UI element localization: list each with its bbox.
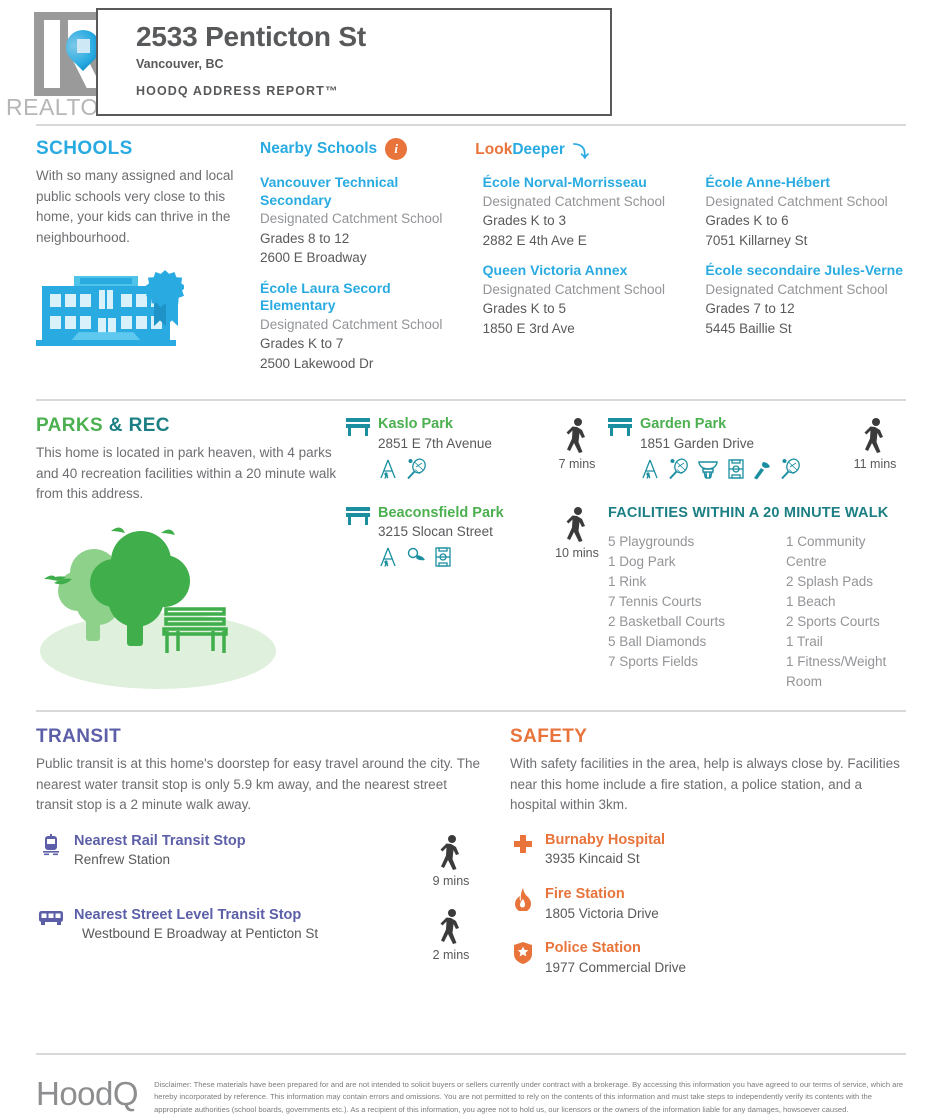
- school-address: 1850 E 3rd Ave: [483, 319, 684, 339]
- safety-item[interactable]: Police Station 1977 Commercial Drive: [510, 939, 906, 978]
- facilities-block: FACILITIES WITHIN A 20 MINUTE WALK 5 Pla…: [608, 504, 906, 692]
- park-illustration: [36, 511, 286, 691]
- hoodq-address-report-page: REALTOR® 2533 Penticton St Vancouver, BC…: [0, 0, 942, 1116]
- walk-time: 2 mins: [420, 906, 482, 962]
- schools-blurb: With so many assigned and local public s…: [36, 166, 246, 248]
- school-name[interactable]: École Laura Secord Elementary: [260, 280, 461, 315]
- facility-item: 7 Sports Fields: [608, 652, 758, 672]
- transit-stop-value: Renfrew Station: [74, 850, 246, 870]
- safety-section: SAFETY With safety facilities in the are…: [506, 726, 906, 978]
- walk-minutes: 2 mins: [420, 948, 482, 962]
- schools-grid: Vancouver Technical Secondary Designated…: [260, 174, 906, 385]
- walking-person-icon: [546, 504, 608, 544]
- school-grades: Grades K to 3: [483, 211, 684, 231]
- safety-facility-name[interactable]: Fire Station: [545, 885, 659, 904]
- report-type-label: HOODQ ADDRESS REPORT™: [136, 84, 610, 98]
- school-designation: Designated Catchment School: [483, 280, 684, 300]
- park-address: 3215 Slocan Street: [378, 522, 504, 542]
- school-grades: Grades K to 6: [705, 211, 906, 231]
- park-bench-icon: [346, 507, 370, 525]
- transit-stop-row[interactable]: Nearest Street Level Transit Stop Westbo…: [36, 906, 482, 962]
- transit-stop-value: Westbound E Broadway at Penticton St: [82, 924, 318, 944]
- disclaimer-text: Disclaimer: These materials have been pr…: [154, 1069, 906, 1116]
- flame-icon: [510, 885, 536, 911]
- basketball-icon: [696, 458, 720, 480]
- train-icon: [36, 832, 66, 871]
- school-grades: Grades K to 7: [260, 334, 461, 354]
- hospital-cross-icon: [510, 831, 536, 855]
- school-item[interactable]: École Norval-Morrisseau Designated Catch…: [483, 174, 684, 250]
- sports-field-icon: [434, 546, 452, 568]
- police-shield-icon: [510, 939, 536, 965]
- park-name[interactable]: Kaslo Park: [378, 415, 492, 433]
- nearby-schools-heading: Nearby Schools i: [260, 138, 475, 160]
- school-address: 2600 E Broadway: [260, 248, 461, 268]
- sports-field-icon: [727, 458, 745, 480]
- school-grades: Grades K to 5: [483, 299, 684, 319]
- walk-minutes: 9 mins: [420, 874, 482, 888]
- parks-section: PARKS & REC This home is located in park…: [0, 401, 942, 692]
- safety-facility-address: 3935 Kincaid St: [545, 849, 665, 869]
- bus-icon: [36, 906, 66, 945]
- safety-blurb: With safety facilities in the area, help…: [510, 754, 906, 816]
- walk-time: 9 mins: [420, 832, 482, 888]
- park-amenities: [378, 546, 504, 568]
- divider: [36, 1053, 906, 1055]
- school-designation: Designated Catchment School: [705, 192, 906, 212]
- look-deeper-label-b: Deeper: [512, 141, 565, 158]
- walk-time: 11 mins: [844, 415, 906, 471]
- info-icon[interactable]: i: [385, 138, 407, 160]
- park-bench-icon: [346, 418, 370, 436]
- safety-facility-address: 1977 Commercial Drive: [545, 958, 686, 978]
- school-address: 5445 Baillie St: [705, 319, 906, 339]
- school-item[interactable]: Queen Victoria Annex Designated Catchmen…: [483, 262, 684, 338]
- facility-item: 2 Sports Courts: [786, 612, 906, 632]
- parks-blurb: This home is located in park heaven, wit…: [36, 443, 346, 505]
- school-name[interactable]: École secondaire Jules-Verne: [705, 262, 906, 280]
- school-name[interactable]: École Norval-Morrisseau: [483, 174, 684, 192]
- transit-safety-section: TRANSIT Public transit is at this home's…: [0, 712, 942, 978]
- facility-item: 1 Beach: [786, 592, 906, 612]
- safety-item[interactable]: Fire Station 1805 Victoria Drive: [510, 885, 906, 924]
- facilities-column-1: 5 Playgrounds 1 Dog Park 1 Rink 7 Tennis…: [608, 532, 758, 692]
- schools-column: École Anne-Hébert Designated Catchment S…: [705, 174, 906, 385]
- playground-icon: [378, 458, 398, 480]
- report-footer: HoodQ Disclaimer: These materials have b…: [0, 1053, 942, 1116]
- schools-section-title: SCHOOLS: [36, 138, 246, 160]
- map-pin-icon: [66, 30, 100, 74]
- facilities-title: FACILITIES WITHIN A 20 MINUTE WALK: [608, 504, 906, 524]
- school-grades: Grades 8 to 12: [260, 229, 461, 249]
- school-award-badge-icon: [146, 270, 188, 326]
- facility-item: 1 Trail: [786, 632, 906, 652]
- facility-item: 1 Dog Park: [608, 552, 758, 572]
- playground-icon: [640, 458, 660, 480]
- school-item[interactable]: École Laura Secord Elementary Designated…: [260, 280, 461, 374]
- parks-title-a: PARKS: [36, 415, 103, 436]
- park-address: 1851 Garden Drive: [640, 434, 801, 454]
- transit-section-title: TRANSIT: [36, 726, 482, 748]
- look-deeper-label-a: Look: [475, 141, 512, 158]
- tennis-icon: [405, 458, 427, 480]
- school-designation: Designated Catchment School: [260, 315, 461, 335]
- tennis-icon: [667, 458, 689, 480]
- safety-facility-name[interactable]: Burnaby Hospital: [545, 831, 665, 850]
- facility-item: 1 Rink: [608, 572, 758, 592]
- walk-minutes: 7 mins: [546, 457, 608, 471]
- school-designation: Designated Catchment School: [260, 209, 461, 229]
- school-building-illustration: [36, 264, 196, 354]
- walking-person-icon: [420, 832, 482, 872]
- facility-item: 7 Tennis Courts: [608, 592, 758, 612]
- school-name[interactable]: École Anne-Hébert: [705, 174, 906, 192]
- park-item[interactable]: Kaslo Park 2851 E 7th Avenue: [346, 415, 546, 479]
- facilities-column-2: 1 Community Centre 2 Splash Pads 1 Beach…: [786, 532, 906, 692]
- park-name[interactable]: Beaconsfield Park: [378, 504, 504, 522]
- park-amenities: [640, 458, 801, 480]
- park-item[interactable]: Garden Park 1851 Garden Drive: [608, 415, 844, 479]
- transit-stop-label: Nearest Rail Transit Stop: [74, 832, 246, 851]
- park-name[interactable]: Garden Park: [640, 415, 801, 433]
- transit-section: TRANSIT Public transit is at this home's…: [36, 726, 506, 978]
- look-deeper-heading[interactable]: LookDeeper ⤵: [475, 138, 906, 162]
- playground-icon: [378, 546, 398, 568]
- ball-diamond-icon: [752, 458, 772, 480]
- address-header-box: 2533 Penticton St Vancouver, BC HOODQ AD…: [96, 8, 612, 116]
- tennis-icon: [779, 458, 801, 480]
- facility-item: 1 Fitness/Weight Room: [786, 652, 906, 692]
- report-header: REALTOR® 2533 Penticton St Vancouver, BC…: [0, 0, 942, 124]
- park-address: 2851 E 7th Avenue: [378, 434, 492, 454]
- facility-item: 5 Playgrounds: [608, 532, 758, 552]
- facility-item: 5 Ball Diamonds: [608, 632, 758, 652]
- transit-blurb: Public transit is at this home's doorste…: [36, 754, 482, 816]
- safety-section-title: SAFETY: [510, 726, 906, 748]
- school-item[interactable]: École secondaire Jules-Verne Designated …: [705, 262, 906, 338]
- school-address: 2500 Lakewood Dr: [260, 354, 461, 374]
- safety-item[interactable]: Burnaby Hospital 3935 Kincaid St: [510, 831, 906, 870]
- school-item[interactable]: Vancouver Technical Secondary Designated…: [260, 174, 461, 268]
- schools-column: Vancouver Technical Secondary Designated…: [260, 174, 461, 385]
- walk-minutes: 11 mins: [844, 457, 906, 471]
- parks-title-b: & REC: [109, 415, 170, 436]
- safety-facility-address: 1805 Victoria Drive: [545, 904, 659, 924]
- park-amenities: [378, 458, 492, 480]
- school-grades: Grades 7 to 12: [705, 299, 906, 319]
- address-city: Vancouver, BC: [136, 57, 610, 71]
- school-name[interactable]: Queen Victoria Annex: [483, 262, 684, 280]
- transit-stop-row[interactable]: Nearest Rail Transit Stop Renfrew Statio…: [36, 832, 482, 888]
- transit-stop-label: Nearest Street Level Transit Stop: [74, 906, 318, 925]
- facility-item: 1 Community Centre: [786, 532, 906, 572]
- walking-person-icon: [420, 906, 482, 946]
- walk-time: 10 mins: [546, 504, 608, 560]
- school-address: 2882 E 4th Ave E: [483, 231, 684, 251]
- parks-section-title: PARKS & REC: [36, 415, 346, 437]
- safety-facility-name[interactable]: Police Station: [545, 939, 686, 958]
- park-item[interactable]: Beaconsfield Park 3215 Slocan Street: [346, 504, 546, 568]
- park-row: Kaslo Park 2851 E 7th Avenue 7 mi: [346, 415, 906, 479]
- ball-diamond-icon: [405, 546, 427, 568]
- facility-item: 2 Splash Pads: [786, 572, 906, 592]
- school-designation: Designated Catchment School: [483, 192, 684, 212]
- walk-time: 7 mins: [546, 415, 608, 471]
- school-address: 7051 Killarney St: [705, 231, 906, 251]
- park-bench-icon: [608, 418, 632, 436]
- hoodq-logo: HoodQ: [36, 1069, 138, 1113]
- schools-column: École Norval-Morrisseau Designated Catch…: [483, 174, 684, 385]
- page-title: 2533 Penticton St: [136, 22, 610, 51]
- school-item[interactable]: École Anne-Hébert Designated Catchment S…: [705, 174, 906, 250]
- park-row: Beaconsfield Park 3215 Slocan Street: [346, 504, 906, 692]
- walk-minutes: 10 mins: [546, 546, 608, 560]
- school-designation: Designated Catchment School: [705, 280, 906, 300]
- walking-person-icon: [844, 415, 906, 455]
- schools-section: SCHOOLS With so many assigned and local …: [0, 126, 942, 385]
- facility-item: 2 Basketball Courts: [608, 612, 758, 632]
- walking-person-icon: [546, 415, 608, 455]
- school-name[interactable]: Vancouver Technical Secondary: [260, 174, 461, 209]
- curved-arrow-icon: ⤵: [573, 138, 589, 162]
